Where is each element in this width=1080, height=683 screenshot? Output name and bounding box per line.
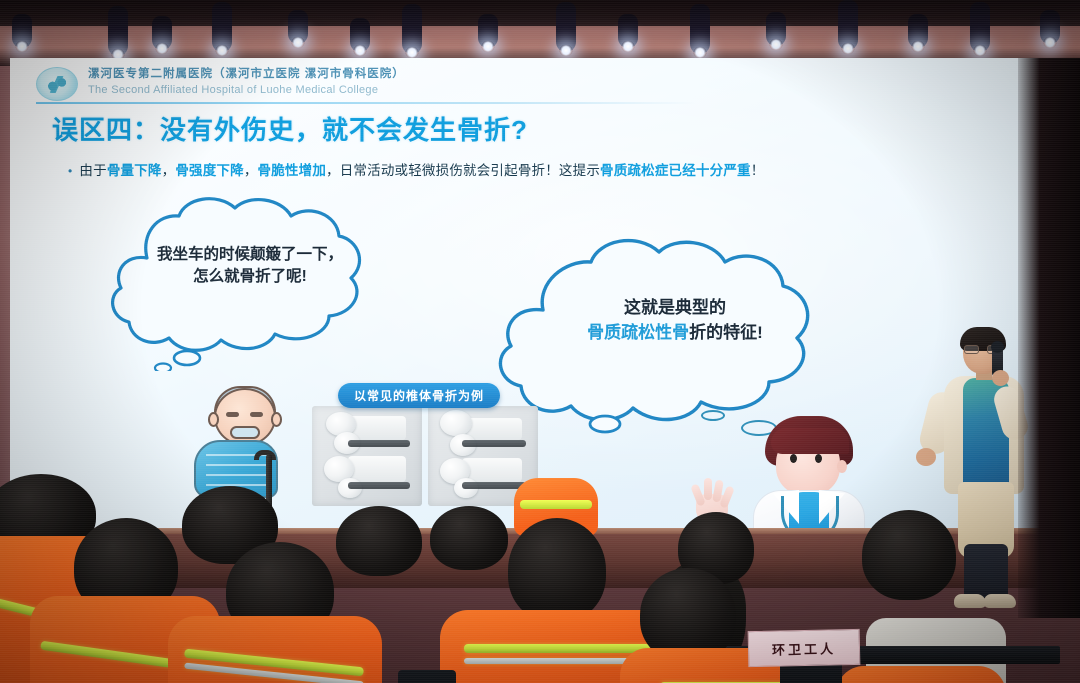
audience-sign: 环卫工人 bbox=[748, 629, 861, 667]
stage-light bbox=[12, 14, 32, 48]
stage-light bbox=[212, 2, 232, 52]
audience-head bbox=[862, 510, 956, 600]
elderly-man-ear bbox=[271, 412, 282, 427]
elderly-man-mouth bbox=[230, 426, 260, 439]
stage-light bbox=[288, 10, 308, 44]
hospital-name-en: The Second Affiliated Hospital of Luohe … bbox=[88, 84, 378, 96]
bubble-right-line2-rest: 折的特征! bbox=[689, 323, 763, 342]
example-label-pill: 以常见的椎体骨折为例 bbox=[338, 383, 500, 408]
bullet-seg: ， bbox=[244, 163, 258, 178]
bubble-right-line1: 这就是典型的 bbox=[465, 296, 885, 321]
audience-head bbox=[336, 506, 422, 576]
cap-reflective-band bbox=[520, 500, 592, 509]
elderly-man-ear bbox=[208, 412, 219, 427]
stage-light bbox=[556, 2, 576, 52]
elderly-man-eye bbox=[226, 412, 239, 417]
header-divider bbox=[36, 102, 696, 104]
audience-head bbox=[508, 518, 606, 622]
stage-light bbox=[478, 14, 498, 48]
audience-rows bbox=[0, 470, 1080, 683]
doctor-fringe bbox=[771, 428, 849, 454]
stage-light bbox=[970, 2, 990, 52]
doctor-eye bbox=[815, 454, 822, 463]
bullet-seg-highlight: 骨脆性增加 bbox=[258, 163, 327, 178]
speech-bubble-patient-text: 我坐车的时候颠簸了一下， 怎么就骨折了呢! bbox=[85, 244, 415, 289]
stage-light bbox=[152, 16, 172, 50]
projection-screen: 漯河医专第二附属医院（漯河市立医院 漯河市骨科医院） The Second Af… bbox=[10, 58, 1056, 528]
bullet-seg-highlight: 骨强度下降 bbox=[175, 163, 244, 178]
presentation-slide: 漯河医专第二附属医院（漯河市立医院 漯河市骨科医院） The Second Af… bbox=[10, 58, 1056, 528]
slide-title: 误区四：没有外伤史，就不会发生骨折? bbox=[52, 110, 528, 147]
stage-light bbox=[908, 14, 928, 48]
presenter-right-hand bbox=[992, 370, 1009, 386]
hospital-emblem-icon bbox=[36, 67, 78, 101]
bullet-seg-highlight: 骨质疏松症已经十分严重 bbox=[600, 163, 751, 178]
bullet-seg: ， bbox=[162, 163, 176, 178]
stage-light bbox=[402, 4, 422, 54]
stage-light bbox=[690, 4, 710, 54]
speech-bubble-patient: 我坐车的时候颠簸了一下， 怎么就骨折了呢! bbox=[85, 186, 415, 371]
audience-orange-uniform bbox=[836, 666, 1006, 683]
stage-light bbox=[1040, 10, 1060, 44]
speech-bubble-doctor-text: 这就是典型的 骨质疏松性骨折的特征! bbox=[465, 296, 885, 345]
audience-head bbox=[430, 506, 508, 570]
slide-bullet-line: •由于骨量下降，骨强度下降，骨脆性增加，日常活动或轻微损伤就会引起骨折！这提示骨… bbox=[68, 159, 764, 179]
walking-cane-handle-icon bbox=[254, 450, 276, 460]
auditorium-scene: 漯河医专第二附属医院（漯河市立医院 漯河市骨科医院） The Second Af… bbox=[0, 0, 1080, 683]
thought-dot bbox=[701, 410, 725, 421]
hospital-name-cn: 漯河医专第二附属医院（漯河市立医院 漯河市骨科医院） bbox=[88, 65, 405, 81]
audience-sign-text: 环卫工人 bbox=[772, 638, 836, 658]
bullet-seg-highlight: 骨量下降 bbox=[107, 163, 162, 178]
bubble-left-line2: 怎么就骨折了呢! bbox=[85, 266, 415, 288]
bullet-seg: ，日常活动或轻微损伤就会引起骨折！这提示 bbox=[326, 163, 600, 178]
stage-light bbox=[618, 14, 638, 48]
bubble-right-line2-highlight: 骨质疏松性骨 bbox=[587, 323, 689, 342]
stage-light bbox=[838, 0, 858, 50]
stage-light bbox=[350, 18, 370, 52]
stage-light bbox=[766, 12, 786, 46]
bullet-marker: • bbox=[68, 164, 72, 178]
bullet-seg: ！ bbox=[751, 163, 765, 178]
bubble-left-line1: 我坐车的时候颠簸了一下， bbox=[85, 244, 415, 266]
elderly-man-eye bbox=[250, 412, 263, 417]
bullet-seg: 由于 bbox=[79, 163, 106, 178]
doctor-eye bbox=[790, 454, 797, 463]
presenter-left-hand bbox=[916, 448, 936, 466]
seat-back bbox=[398, 670, 456, 683]
audience-orange-uniform bbox=[168, 616, 382, 683]
stage-light bbox=[108, 6, 128, 56]
